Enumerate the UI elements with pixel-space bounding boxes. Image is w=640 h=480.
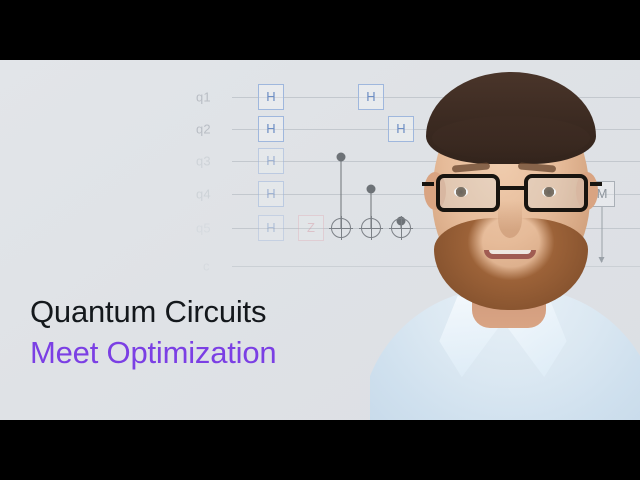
slide-canvas: q1 q2 q3 q4 q5 c H H H H H Z <box>0 60 640 420</box>
wire-label-q4: q4 <box>196 187 226 202</box>
glasses-temple-right <box>590 182 602 186</box>
letterbox-bar-bottom <box>0 420 640 480</box>
presenter-mouth <box>484 250 536 259</box>
presenter-photo <box>370 60 640 420</box>
cnot-control-q1[interactable] <box>337 153 346 162</box>
title-line-secondary: Meet Optimization <box>30 332 276 374</box>
wire-label-q2: q2 <box>196 122 226 137</box>
gate-h-q5-c1[interactable]: H <box>258 215 284 241</box>
wire-label-q5: q5 <box>196 221 226 236</box>
wire-label-q1: q1 <box>196 90 226 105</box>
title-line-primary: Quantum Circuits <box>30 292 276 332</box>
glasses-lens-right <box>524 174 588 212</box>
cnot-target-q5-1[interactable] <box>331 218 351 238</box>
gate-z-q5[interactable]: Z <box>298 215 324 241</box>
gate-h-q4-c1[interactable]: H <box>258 181 284 207</box>
letterbox-bar-top <box>0 0 640 60</box>
title-block: Quantum Circuits Meet Optimization <box>30 292 276 374</box>
glasses-lens-left <box>436 174 500 212</box>
gate-h-q1-c1[interactable]: H <box>258 84 284 110</box>
video-frame: q1 q2 q3 q4 q5 c H H H H H Z <box>0 0 640 480</box>
presenter-glasses <box>430 174 594 214</box>
gate-h-q3-c1[interactable]: H <box>258 148 284 174</box>
wire-label-q3: q3 <box>196 154 226 169</box>
glasses-bridge <box>500 186 524 190</box>
gate-h-q2-c1[interactable]: H <box>258 116 284 142</box>
presenter-hair <box>426 72 596 164</box>
glasses-temple-left <box>422 182 434 186</box>
wire-label-c: c <box>203 259 233 274</box>
